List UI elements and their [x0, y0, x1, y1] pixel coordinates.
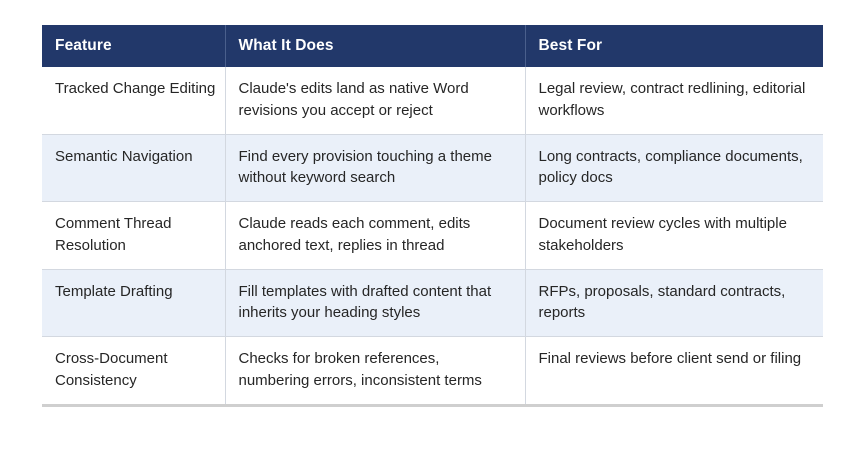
table-header-row: Feature What It Does Best For: [42, 25, 823, 67]
table-row: Semantic Navigation Find every provision…: [42, 134, 823, 202]
cell-best-for: Final reviews before client send or fili…: [525, 337, 823, 406]
column-header-what-it-does: What It Does: [225, 25, 525, 67]
cell-best-for: RFPs, proposals, standard contracts, rep…: [525, 269, 823, 337]
table-row: Comment Thread Resolution Claude reads e…: [42, 202, 823, 270]
cell-feature: Cross-Document Consistency: [42, 337, 225, 406]
cell-feature: Template Drafting: [42, 269, 225, 337]
cell-feature: Tracked Change Editing: [42, 67, 225, 134]
table-body: Tracked Change Editing Claude's edits la…: [42, 67, 823, 405]
cell-best-for: Long contracts, compliance documents, po…: [525, 134, 823, 202]
table-header: Feature What It Does Best For: [42, 25, 823, 67]
cell-what-it-does: Find every provision touching a theme wi…: [225, 134, 525, 202]
cell-feature: Semantic Navigation: [42, 134, 225, 202]
feature-comparison-table-wrapper: Feature What It Does Best For Tracked Ch…: [42, 25, 823, 407]
table-row: Cross-Document Consistency Checks for br…: [42, 337, 823, 406]
cell-what-it-does: Fill templates with drafted content that…: [225, 269, 525, 337]
column-header-best-for: Best For: [525, 25, 823, 67]
column-header-feature: Feature: [42, 25, 225, 67]
table-row: Template Drafting Fill templates with dr…: [42, 269, 823, 337]
cell-feature: Comment Thread Resolution: [42, 202, 225, 270]
table-row: Tracked Change Editing Claude's edits la…: [42, 67, 823, 134]
cell-what-it-does: Checks for broken references, numbering …: [225, 337, 525, 406]
feature-comparison-table: Feature What It Does Best For Tracked Ch…: [42, 25, 823, 407]
cell-what-it-does: Claude reads each comment, edits anchore…: [225, 202, 525, 270]
cell-best-for: Legal review, contract redlining, editor…: [525, 67, 823, 134]
cell-best-for: Document review cycles with multiple sta…: [525, 202, 823, 270]
cell-what-it-does: Claude's edits land as native Word revis…: [225, 67, 525, 134]
